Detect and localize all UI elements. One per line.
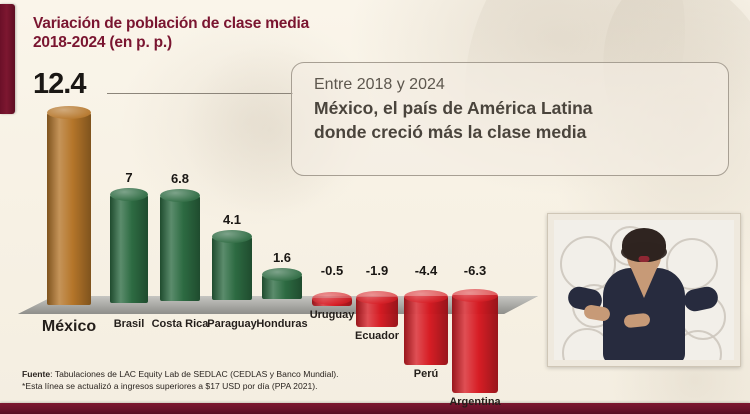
bar-value-label: -6.3 — [437, 263, 513, 278]
bar-value-label: 4.1 — [197, 212, 267, 227]
footnote-source-label: Fuente — [22, 369, 50, 379]
bar-value-label: 12.4 — [33, 68, 85, 101]
bar-value-label: 6.8 — [145, 171, 215, 186]
bar-top-cap — [312, 292, 352, 305]
bar-honduras[interactable] — [262, 274, 302, 299]
slide-canvas: Variación de población de clase media 20… — [0, 0, 750, 414]
bar-top-cap — [452, 289, 498, 302]
video-stage — [554, 220, 734, 360]
bar-top-cap — [160, 189, 200, 202]
bar-body — [404, 296, 448, 365]
bar-mexico[interactable] — [47, 112, 91, 305]
bar-ecuador[interactable] — [356, 297, 398, 327]
bar-body — [110, 194, 148, 303]
bar-costa-rica[interactable] — [160, 195, 200, 301]
bar-top-cap — [47, 106, 91, 119]
bar-uruguay[interactable] — [312, 298, 352, 306]
sign-language-video-inset[interactable] — [547, 213, 741, 367]
footnote-note: *Esta línea se actualizó a ingresos supe… — [22, 380, 452, 392]
footnote: Fuente: Tabulaciones de LAC Equity Lab d… — [22, 368, 452, 393]
bar-top-cap — [262, 268, 302, 281]
bar-top-cap — [110, 188, 148, 201]
bar-body — [160, 195, 200, 301]
footnote-source-text: : Tabulaciones de LAC Equity Lab de SEDL… — [50, 369, 338, 379]
bar-category-label: Argentina — [429, 396, 521, 408]
bar-brasil[interactable] — [110, 194, 148, 303]
bar-paraguay[interactable] — [212, 236, 252, 300]
interpreter-mouth — [639, 256, 650, 262]
bar-top-cap — [404, 290, 448, 303]
bar-top-cap — [212, 230, 252, 243]
bar-body — [452, 295, 498, 393]
bar-body — [47, 112, 91, 305]
footnote-source: Fuente: Tabulaciones de LAC Equity Lab d… — [22, 368, 452, 380]
bar-top-cap — [356, 291, 398, 304]
bar-perú[interactable] — [404, 296, 448, 365]
bar-argentina[interactable] — [452, 295, 498, 393]
bar-body — [212, 236, 252, 300]
bar-chart: 12.4México7Brasil6.8Costa Rica4.1Paragua… — [0, 0, 560, 414]
